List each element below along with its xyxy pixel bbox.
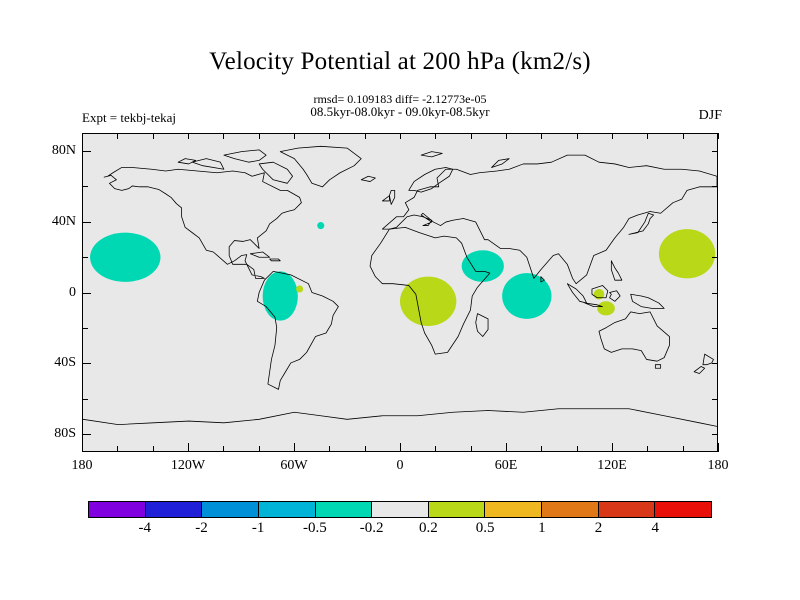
contour-region-northern-south-america-negative <box>263 271 298 320</box>
x-axis-label: 60E <box>495 458 518 474</box>
colorbar-tick-label: -0.2 <box>360 520 384 537</box>
coastline-path <box>83 409 717 427</box>
x-axis-label: 120W <box>171 458 205 474</box>
x-axis-tick-top <box>577 133 578 139</box>
coastline-path <box>629 213 654 234</box>
x-axis-tick-major <box>400 443 401 452</box>
x-axis-tick-major <box>294 443 295 452</box>
coastline-path <box>178 159 196 164</box>
coastline-path <box>567 284 586 303</box>
y-axis-tick-right <box>712 434 718 435</box>
colorbar-tick-label: -0.5 <box>303 520 327 537</box>
colorbar-band-4 <box>316 502 373 517</box>
contour-region-central-north-pacific-negative <box>90 233 160 282</box>
x-axis-tick-top <box>82 133 83 139</box>
y-axis-tick-major <box>82 293 91 294</box>
x-axis-tick-major <box>718 443 719 452</box>
coastline-path <box>631 294 664 308</box>
y-axis-tick <box>82 186 88 187</box>
colorbar-band-2 <box>202 502 259 517</box>
x-axis-tick <box>683 446 684 452</box>
y-axis-tick-major <box>82 434 91 435</box>
x-axis-tick-top <box>683 133 684 139</box>
x-axis-tick-top <box>647 133 648 139</box>
page-title: Velocity Potential at 200 hPa (km2/s) <box>0 48 800 76</box>
y-axis-tick-major <box>82 363 91 364</box>
contour-region-tropical-atlantic-speck-negative <box>317 222 324 229</box>
y-axis-tick-right <box>712 151 718 152</box>
colorbar-band-6 <box>429 502 486 517</box>
x-axis-tick <box>117 446 118 452</box>
y-axis-label: 40S <box>30 355 76 371</box>
contour-region-arabia-negative <box>462 250 504 282</box>
coastline-path <box>280 146 361 187</box>
season-label: DJF <box>699 108 722 124</box>
coastline-layer <box>83 146 717 426</box>
colorbar-tick-label: -4 <box>138 520 151 537</box>
coastline-path <box>476 314 488 337</box>
y-axis-tick-right <box>712 363 718 364</box>
colorbar-tick-label: -2 <box>195 520 208 537</box>
contour-region-java-positive <box>597 301 615 315</box>
colorbar-band-5 <box>372 502 429 517</box>
coastline-path <box>694 366 705 373</box>
x-axis-tick-top <box>612 133 613 139</box>
coastline-path <box>421 152 442 157</box>
x-axis-tick <box>577 446 578 452</box>
x-axis-tick-top <box>153 133 154 139</box>
x-axis-tick-major <box>188 443 189 452</box>
x-axis-tick <box>647 446 648 452</box>
y-axis-tick-right <box>712 399 718 400</box>
x-axis-tick <box>365 446 366 452</box>
x-axis-tick-top <box>294 133 295 139</box>
coastline-path <box>270 259 281 261</box>
coastline-path <box>224 150 266 162</box>
contour-region-central-africa-positive <box>400 277 456 326</box>
colorbar-band-3 <box>259 502 316 517</box>
coastline-path <box>192 159 224 170</box>
x-axis-tick-top <box>329 133 330 139</box>
coastline-path <box>655 365 660 369</box>
y-axis-tick-right <box>712 257 718 258</box>
x-axis-tick <box>223 446 224 452</box>
coastline-path <box>492 159 510 168</box>
y-axis-tick <box>82 399 88 400</box>
x-axis-tick-major <box>612 443 613 452</box>
experiment-label: Expt = tekbj-tekaj <box>82 110 176 126</box>
y-axis-label: 80N <box>30 143 76 159</box>
y-axis-tick-right <box>712 328 718 329</box>
contour-region-guyana-speck-positive <box>296 285 303 292</box>
y-axis-tick <box>82 328 88 329</box>
x-axis-tick <box>471 446 472 452</box>
x-axis-tick-top <box>400 133 401 139</box>
y-axis-label: 0 <box>30 285 76 301</box>
y-axis-tick-right <box>712 222 718 223</box>
colorbar-tick-label: 1 <box>538 520 546 537</box>
x-axis-tick <box>541 446 542 452</box>
coastline-path <box>599 312 669 361</box>
x-axis-tick-top <box>718 133 719 139</box>
x-axis-tick <box>435 446 436 452</box>
x-axis-tick-top <box>541 133 542 139</box>
coastline-path <box>361 176 375 181</box>
x-axis-label: 180 <box>708 458 729 474</box>
y-axis-tick <box>82 257 88 258</box>
contour-region-northwest-pacific-positive <box>659 229 715 278</box>
colorbar-band-10 <box>655 502 711 517</box>
x-axis-tick-top <box>506 133 507 139</box>
coastline-path <box>382 196 389 201</box>
x-axis-tick <box>153 446 154 452</box>
x-axis-tick-top <box>117 133 118 139</box>
x-axis-label: 0 <box>397 458 404 474</box>
colorbar-tick-label: 0.2 <box>419 520 438 537</box>
colorbar-band-1 <box>146 502 203 517</box>
coastline-path <box>389 190 394 204</box>
colorbar-tick-label: -1 <box>252 520 265 537</box>
x-axis-label: 60W <box>280 458 307 474</box>
x-axis-tick-top <box>435 133 436 139</box>
y-axis-label: 40N <box>30 214 76 230</box>
colorbar-band-7 <box>485 502 542 517</box>
x-axis-tick-major <box>506 443 507 452</box>
y-axis-tick-right <box>712 186 718 187</box>
colorbar <box>88 501 712 518</box>
y-axis-tick-right <box>712 293 718 294</box>
coastline-path <box>409 167 453 192</box>
x-axis-tick <box>329 446 330 452</box>
x-axis-tick-top <box>188 133 189 139</box>
coastline-path <box>250 252 269 257</box>
colorbar-tick-label: 4 <box>652 520 660 537</box>
x-axis-tick-top <box>223 133 224 139</box>
x-axis-tick-top <box>471 133 472 139</box>
y-axis-tick-major <box>82 151 91 152</box>
coastline-path <box>611 261 622 280</box>
coastline-path <box>610 291 621 302</box>
x-axis-tick <box>259 446 260 452</box>
x-axis-tick-top <box>259 133 260 139</box>
contour-fill-layer <box>90 222 715 326</box>
y-axis-label: 80S <box>30 426 76 442</box>
x-axis-label: 180 <box>72 458 93 474</box>
colorbar-band-8 <box>542 502 599 517</box>
world-map <box>83 134 717 451</box>
colorbar-band-0 <box>89 502 146 517</box>
colorbar-tick-label: 0.5 <box>476 520 495 537</box>
map-plot-area <box>82 133 718 452</box>
colorbar-band-9 <box>599 502 656 517</box>
x-axis-label: 120E <box>597 458 627 474</box>
x-axis-tick-top <box>365 133 366 139</box>
y-axis-tick-major <box>82 222 91 223</box>
colorbar-tick-label: 2 <box>595 520 603 537</box>
x-axis-tick-major <box>82 443 83 452</box>
